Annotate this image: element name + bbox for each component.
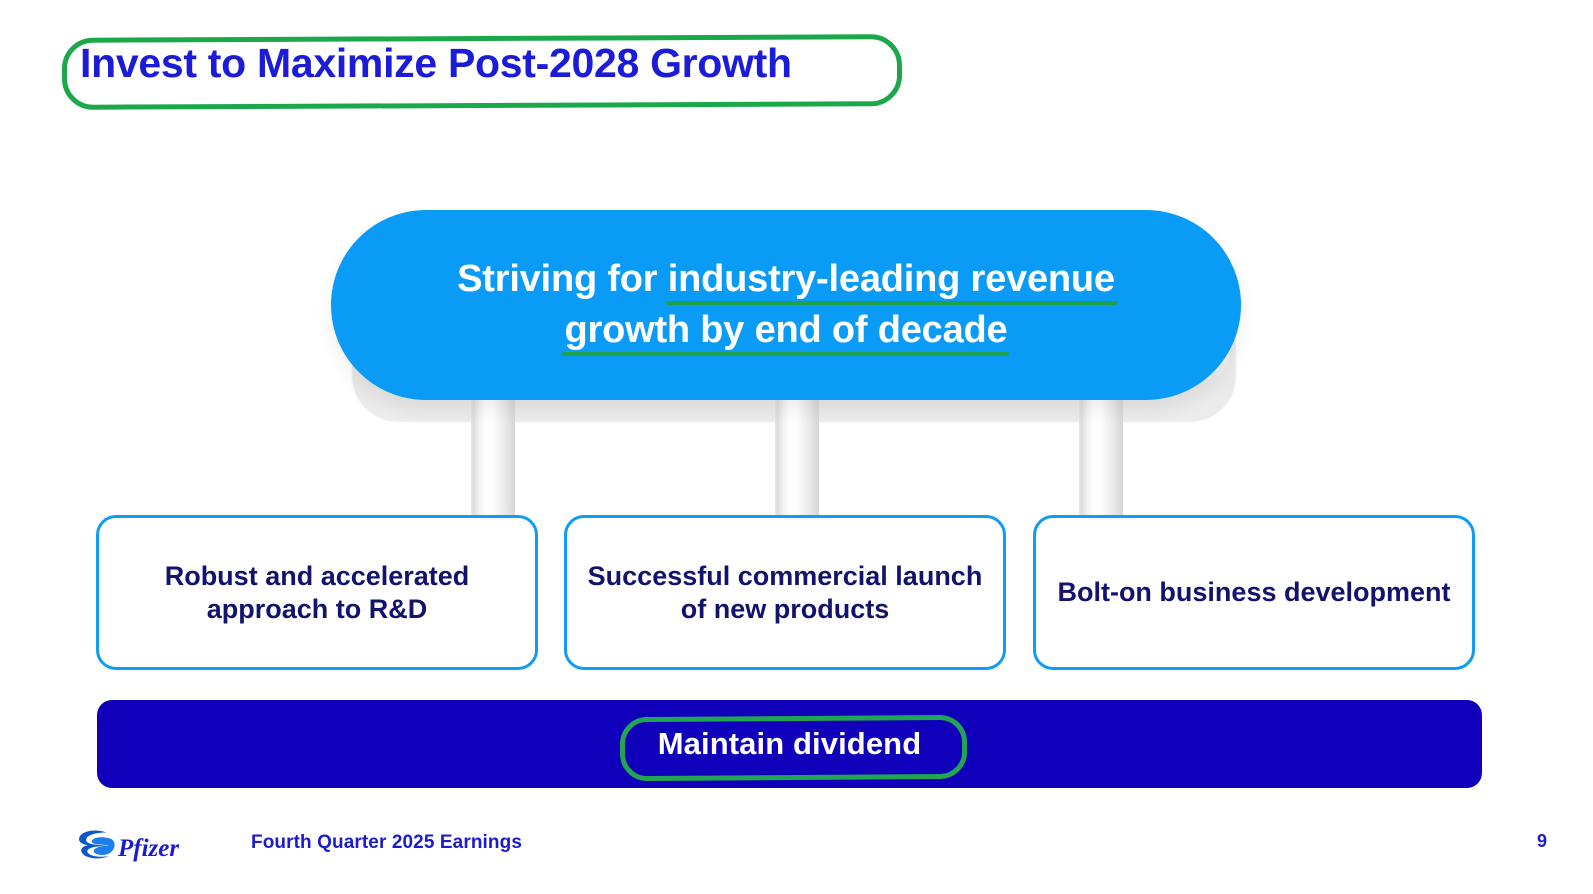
headline-emphasis-line2: growth by end of decade	[564, 309, 1007, 351]
headline-emphasis-line1: industry-leading revenue	[668, 258, 1115, 300]
pillar-box-launch[interactable]: Successful commercial launch of new prod…	[564, 515, 1006, 670]
pillar-column-left	[471, 395, 515, 523]
headline-text: Striving for industry-leading revenuegro…	[423, 254, 1149, 355]
pillar-box-label: Robust and accelerated approach to R&D	[99, 560, 535, 624]
pillar-box-label: Bolt-on business development	[1039, 576, 1468, 608]
footer-caption: Fourth Quarter 2025 Earnings	[251, 832, 522, 854]
page-number: 9	[1537, 831, 1547, 852]
pfizer-wordmark: Pfizer	[117, 835, 179, 862]
pillar-box-rd[interactable]: Robust and accelerated approach to R&D	[96, 515, 538, 670]
pillar-column-right	[1079, 395, 1123, 523]
headline-pill: Striving for industry-leading revenuegro…	[331, 210, 1241, 400]
svg-text:Pfizer: Pfizer	[117, 835, 179, 862]
dividend-annotation-ring	[620, 715, 967, 781]
pfizer-logo: Pfizer	[76, 826, 184, 864]
pillar-box-label: Successful commercial launch of new prod…	[567, 560, 1003, 624]
pillar-column-center	[775, 395, 819, 523]
headline-lead: Striving for	[457, 258, 668, 300]
pillar-box-business-development[interactable]: Bolt-on business development	[1033, 515, 1475, 670]
page-title: Invest to Maximize Post-2028 Growth	[80, 40, 792, 87]
pfizer-swirl-icon	[79, 830, 115, 858]
